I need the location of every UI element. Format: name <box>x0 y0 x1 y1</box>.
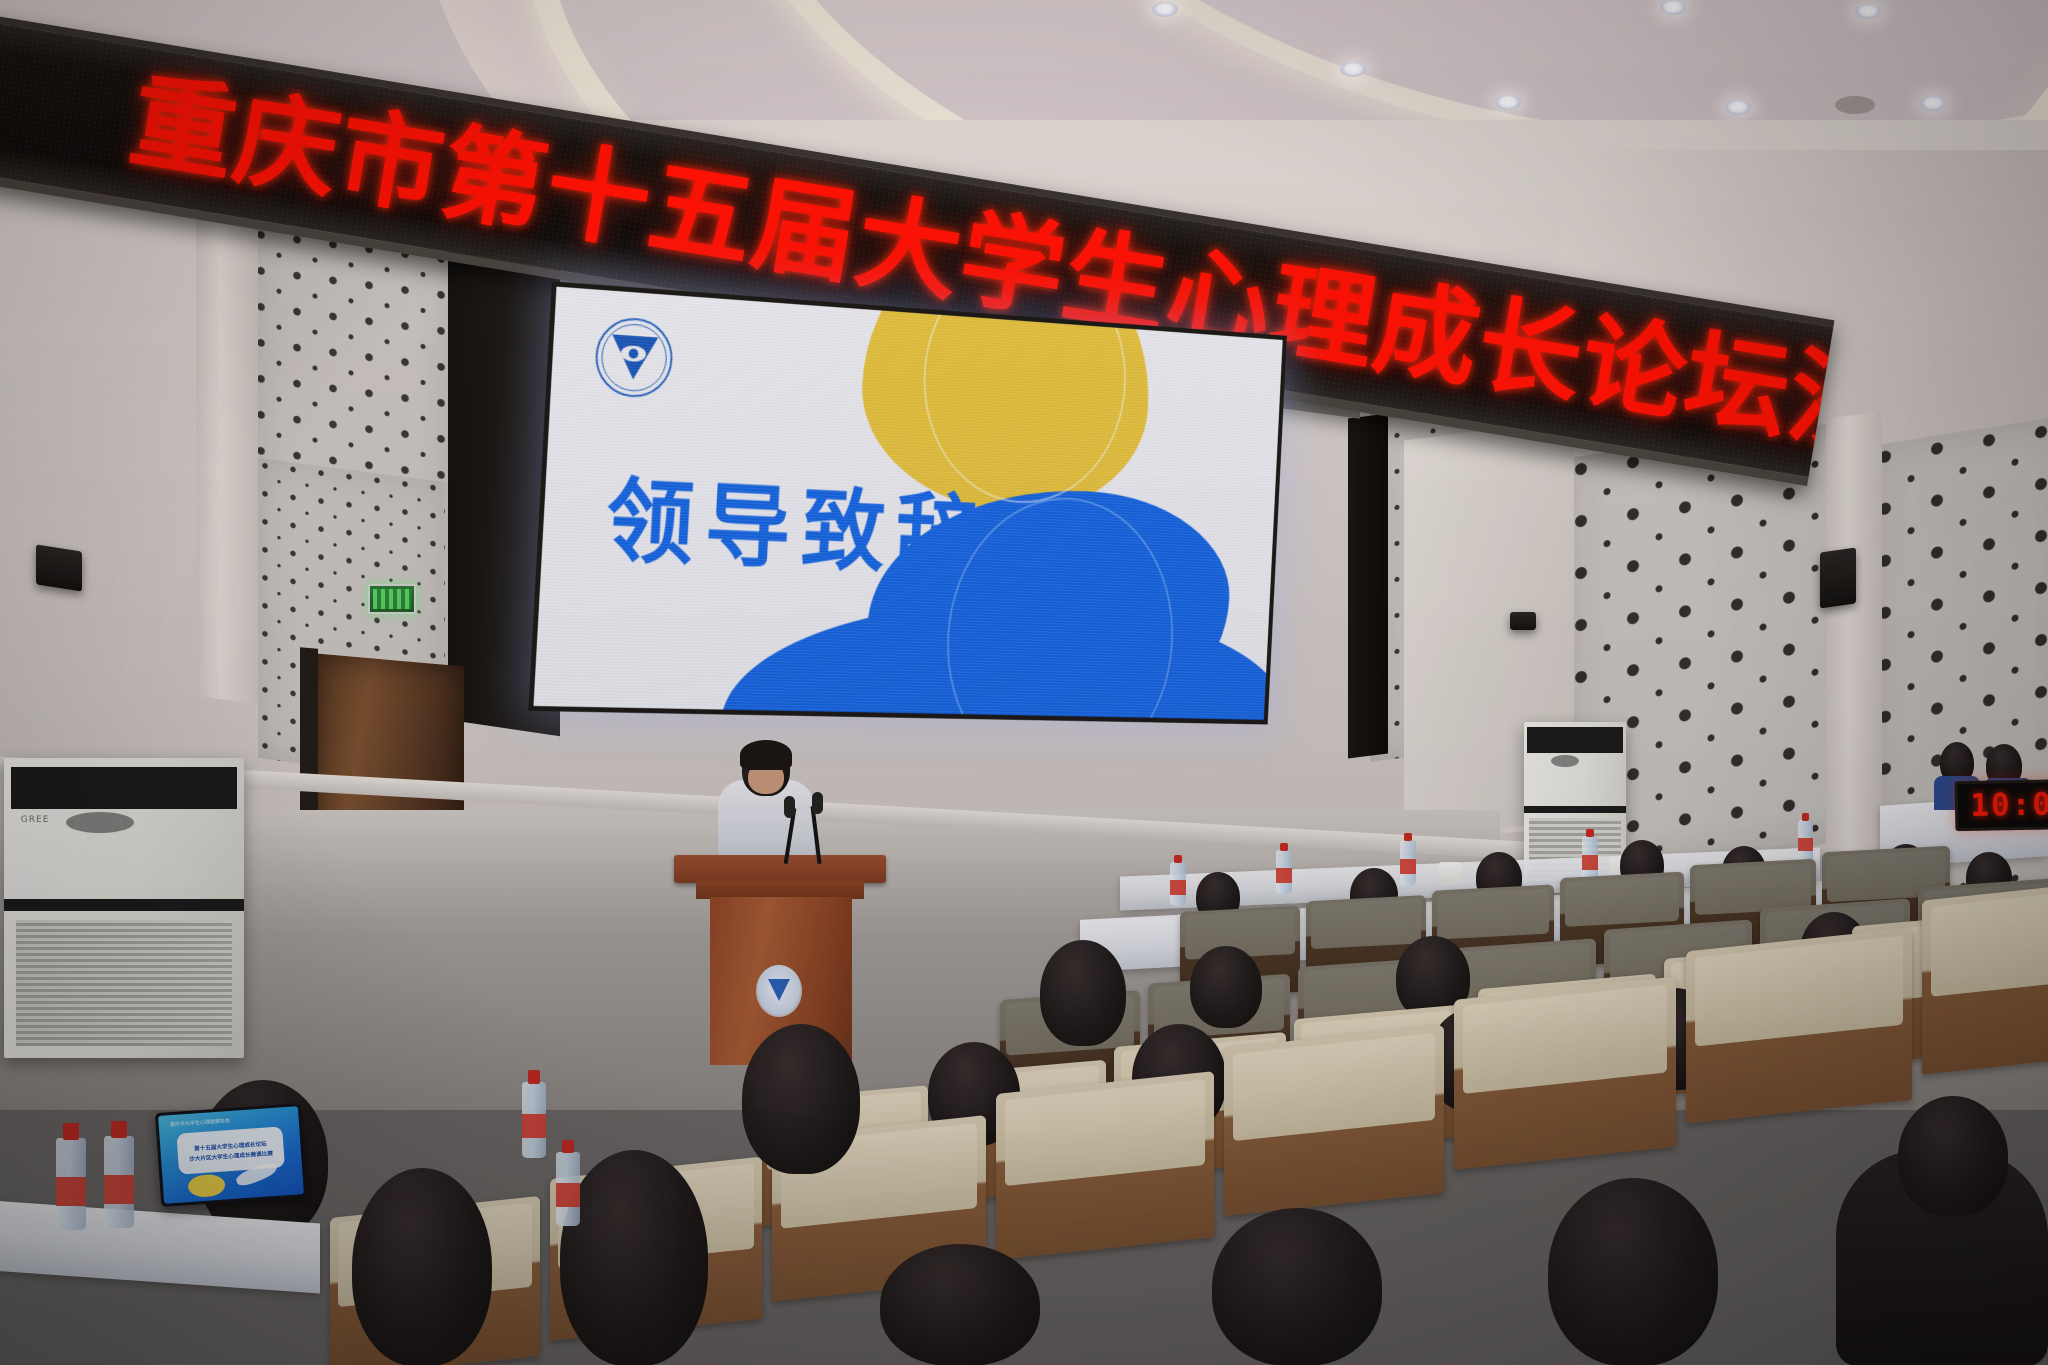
water-bottle-3[interactable] <box>1400 840 1416 886</box>
water-bottle-1[interactable] <box>1170 862 1186 906</box>
microphone-2-head <box>812 792 823 814</box>
wall-speaker-right <box>1820 547 1856 608</box>
ac-left-brand: GREE <box>21 815 50 825</box>
countdown-timer: 10:00 <box>1955 779 2048 831</box>
microphone-1-head <box>784 796 795 818</box>
podium-top <box>674 855 886 883</box>
university-seal-logo <box>594 316 675 400</box>
foreground-head-5 <box>880 1244 1040 1365</box>
exit-sign-icon <box>368 584 416 614</box>
water-bottle-4[interactable] <box>1582 836 1598 882</box>
foreground-head-8 <box>1548 1178 1718 1365</box>
projection-screen: 领导致辞 <box>545 286 1365 706</box>
attendee-head-r3-1 <box>1190 946 1262 1028</box>
water-bottle-2[interactable] <box>1276 850 1292 894</box>
tea-cup-2[interactable] <box>1438 862 1462 886</box>
water-bottle-left-2[interactable] <box>104 1136 134 1228</box>
foreground-head-4 <box>742 1024 860 1174</box>
foreground-head-2 <box>352 1168 492 1365</box>
water-bottle-left-4[interactable] <box>556 1152 580 1226</box>
wall-light-right <box>1510 612 1536 630</box>
foreground-head-9 <box>1898 1096 2008 1216</box>
timer-value: 10:00 <box>1970 786 2048 824</box>
air-conditioner-left: GREE <box>4 758 244 1058</box>
water-bottle-left-3[interactable] <box>522 1082 546 1158</box>
foreground-head-3 <box>560 1150 708 1365</box>
wall-pillar-far-right <box>1826 411 1882 889</box>
event-table-sign[interactable]: 重庆市大学生心理健康协会 第十五届大学生心理成长论坛 沙大片区大学生心理成长微课… <box>155 1103 307 1207</box>
speaker-hair <box>740 740 792 770</box>
table-sign-header: 重庆市大学生心理健康协会 <box>170 1117 230 1128</box>
slide-title: 领导致辞 <box>603 447 991 592</box>
foreground-head-7 <box>1212 1208 1382 1365</box>
wall-speaker-left <box>36 544 82 591</box>
table-sign-shape-yellow <box>188 1173 226 1198</box>
water-bottle-left-1[interactable] <box>56 1138 86 1230</box>
auditorium-scene: 重庆市第十五届大学生心理成长论坛沙大片区大学生心理成长微课大赛 领导致辞 <box>0 0 2048 1365</box>
water-bottle-5[interactable] <box>1798 820 1813 862</box>
foreground-head-6 <box>1040 940 1126 1046</box>
podium-emblem-icon <box>756 965 802 1017</box>
